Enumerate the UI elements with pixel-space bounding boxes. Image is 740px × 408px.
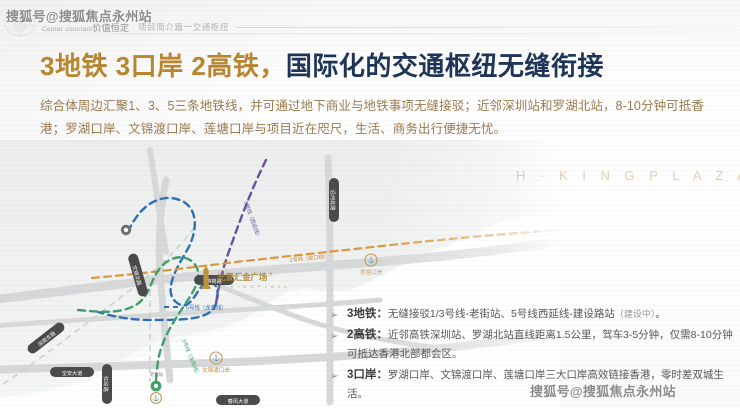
bullet-key: 3口岸： <box>347 369 388 381</box>
svg-text:老街站: 老街站 <box>150 371 164 378</box>
bullet-tail: 。 <box>655 308 666 320</box>
list-item: ➢ 2高铁：近邻高铁深圳站、罗湖北站直线距离1.5公里，驾车3-5分钟，仅需8-… <box>330 326 734 365</box>
bullet-text: 近邻高铁深圳站、罗湖北站直线距离1.5公里，驾车3-5分钟，仅需8-10分钟可抵… <box>347 329 733 361</box>
brand-watermark-kingplaza: H · K I N G P L A Z A <box>516 168 740 183</box>
bullet-text: 无缝接驳1/3号线-老街站、5号线西延线-建设路站 <box>388 308 615 320</box>
list-item: ➢ 3地铁：无缝接驳1/3号线-老街站、5号线西延线-建设路站（建设中）。 <box>330 305 734 325</box>
watermark-bottom: 搜狐号@搜狐焦点永州站 <box>530 381 676 400</box>
svg-text:H · K I N G P L A Z A: H · K I N G P L A Z A <box>218 284 289 289</box>
arrow-icon: ➢ <box>330 367 338 387</box>
bullet-key: 3地铁： <box>347 308 388 320</box>
svg-text:宝安大道: 宝安大道 <box>62 369 83 377</box>
svg-text:⚓: ⚓ <box>212 354 220 362</box>
page-title-highlight: 3地铁 3口岸 2高铁， <box>40 51 286 81</box>
page-title-main: 国际化的交通枢纽无缝衔接 <box>286 51 604 81</box>
intro-paragraph: 综合体周边汇聚1、3、5三条地铁线，并可通过地下商业与地铁事项无缝接驳；近邻深圳… <box>40 95 708 141</box>
page-title: 3地铁 3口岸 2高铁，国际化的交通枢纽无缝衔接 <box>40 50 604 82</box>
svg-text:春风大道: 春风大道 <box>228 397 249 405</box>
slide-root: 深南东路 文锦北路 笋岗路 沿河北路 宝安大道 <box>0 0 740 408</box>
bullet-key: 2高铁： <box>347 329 388 341</box>
svg-text:文锦渡口岸: 文锦渡口岸 <box>202 366 230 374</box>
svg-text:沿河北路: 沿河北路 <box>329 190 337 212</box>
header-rule <box>236 27 736 28</box>
arrow-icon: ➢ <box>330 306 338 326</box>
bullet-note: （建设中） <box>615 309 656 319</box>
svg-text:莲塘口岸: 莲塘口岸 <box>360 268 383 276</box>
svg-text:红岭路: 红岭路 <box>102 376 110 392</box>
svg-text:光置汇金广场: 光置汇金广场 <box>216 272 268 282</box>
header-rule-secondary <box>0 33 740 34</box>
watermark-top: 搜狐号@搜狐焦点永州站 <box>6 6 152 25</box>
svg-text:⚓: ⚓ <box>152 394 159 402</box>
svg-text:5号线（龙岗线）: 5号线（龙岗线） <box>186 303 227 311</box>
brand-tagline-en: Center constant <box>42 26 92 33</box>
arrow-icon: ➢ <box>330 327 338 347</box>
svg-text:⚓: ⚓ <box>367 256 375 264</box>
